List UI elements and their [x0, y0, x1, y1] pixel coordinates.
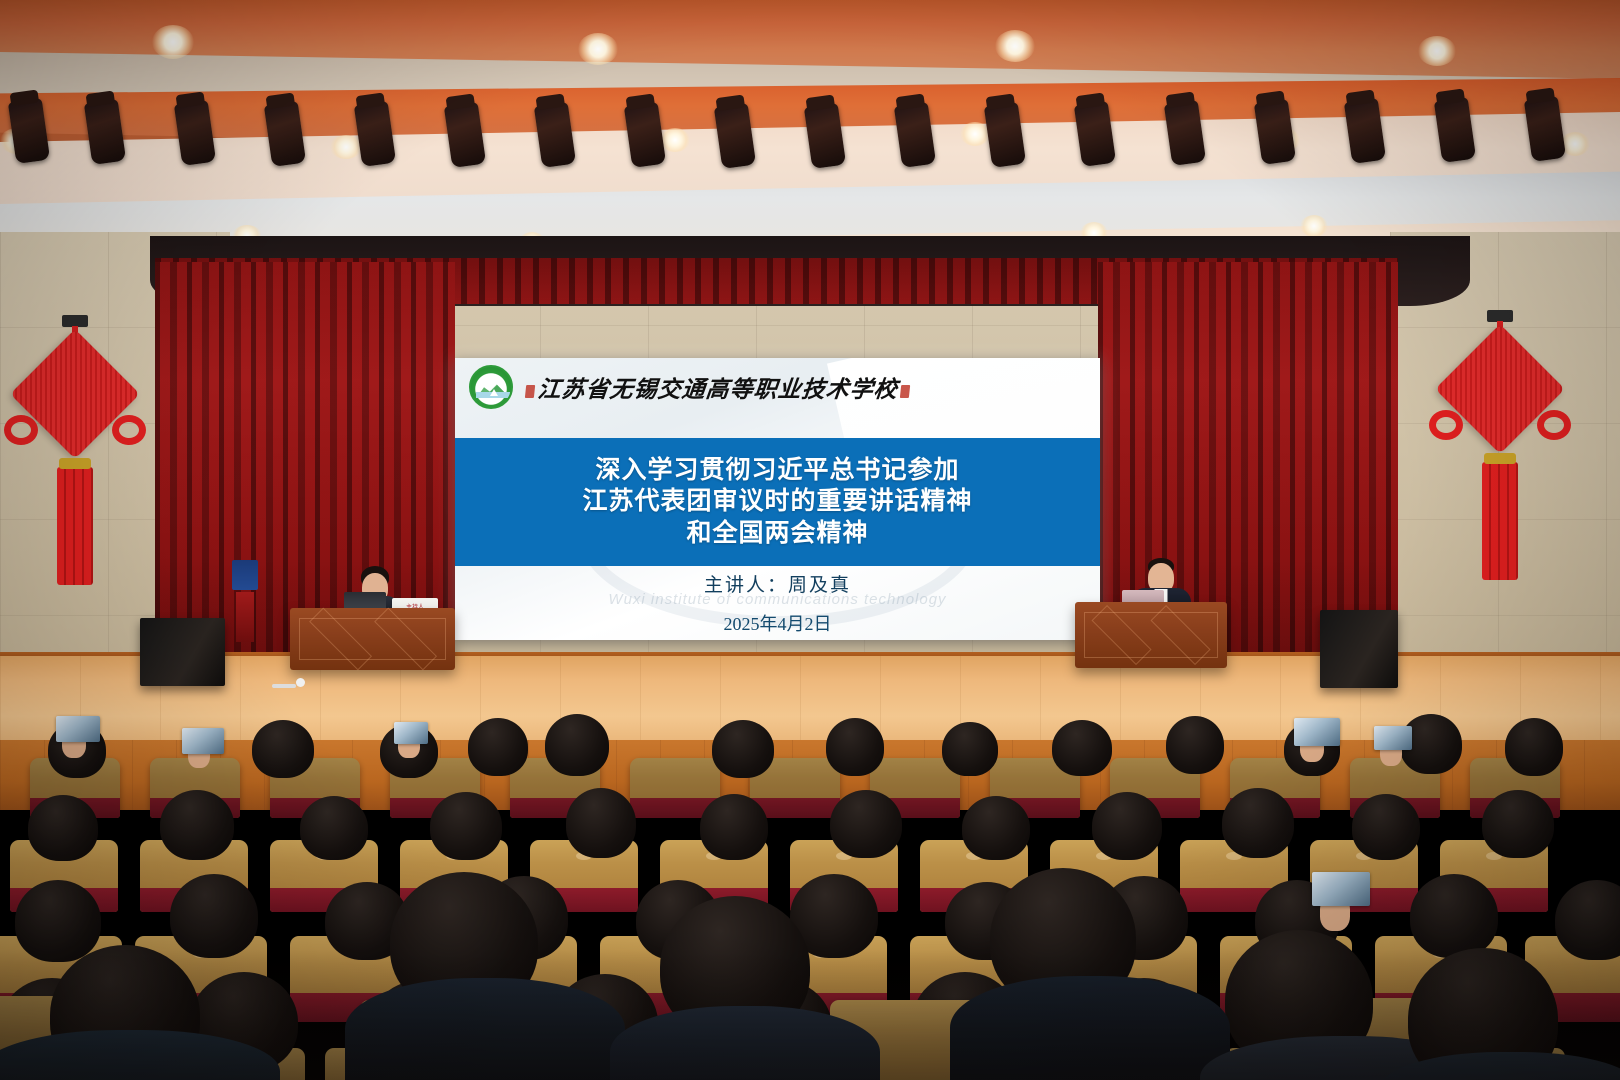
- audience-head: [1482, 790, 1554, 858]
- audience-head: [700, 794, 768, 860]
- slide-title-line-2: 江苏代表团审议时的重要讲话精神: [582, 487, 972, 517]
- audience-head: [1555, 880, 1620, 960]
- presider-desk: [290, 608, 455, 670]
- desk-panel-detail: [1084, 612, 1218, 658]
- school-emblem-icon: [469, 365, 513, 409]
- downlight-icon: [995, 30, 1035, 62]
- slide-date-line: 2025年4月2日: [455, 610, 1100, 636]
- lecturer-desk: [1075, 602, 1227, 668]
- stage-speaker-right: [1320, 610, 1398, 688]
- audience-head: [15, 880, 101, 962]
- audience-head: [1092, 792, 1162, 860]
- school-name-title: 江苏省无锡交通高等职业技术学校: [521, 370, 915, 404]
- downlight-icon: [1418, 36, 1456, 66]
- audience-phone-icon[interactable]: [394, 722, 428, 744]
- slide-header: 江苏省无锡交通高等职业技术学校: [455, 358, 1100, 416]
- audience-head: [430, 792, 502, 860]
- emblem-boat-shape: [490, 389, 498, 396]
- audience-head: [962, 796, 1030, 860]
- audience-area: [0, 700, 1620, 1080]
- audience-head: [712, 720, 774, 778]
- podium-sign: [232, 560, 258, 590]
- audience-phone-icon[interactable]: [1374, 726, 1412, 750]
- downlight-icon: [960, 122, 990, 146]
- audience-head: [252, 720, 314, 778]
- audience-head: [160, 790, 234, 860]
- microphone-cable: [272, 684, 296, 688]
- desk-panel-detail: [299, 618, 446, 660]
- audience-phone-icon[interactable]: [1312, 872, 1370, 906]
- audience-head: [942, 722, 998, 776]
- downlight-icon: [1300, 215, 1328, 237]
- knot-tassel: [1482, 462, 1518, 580]
- slide-title-line-1: 深入学习贯彻习近平总书记参加: [595, 456, 959, 486]
- audience-shoulders: [950, 976, 1230, 1080]
- knot-loop-left: [1429, 410, 1463, 440]
- audience-phone-icon[interactable]: [1294, 718, 1340, 746]
- audience-head: [1352, 794, 1420, 860]
- audience-head: [1505, 718, 1563, 776]
- audience-head: [830, 790, 902, 858]
- knot-tassel: [57, 467, 93, 585]
- audience-head: [1410, 874, 1498, 958]
- knot-loop-right: [1537, 410, 1571, 440]
- audience-head: [545, 714, 609, 776]
- slide-title-line-3: 和全国两会精神: [686, 519, 868, 549]
- audience-head: [28, 795, 98, 861]
- downlight-icon: [660, 128, 690, 152]
- slide-speaker-line: 主讲人：周及真: [455, 570, 1100, 597]
- audience-head: [566, 788, 636, 858]
- knot-loop-right: [112, 415, 146, 445]
- audience-head: [1052, 720, 1112, 776]
- audience-head: [1222, 788, 1294, 858]
- podium-banner: [236, 592, 254, 642]
- seal-stamp-icon: [525, 385, 535, 398]
- audience-head: [1166, 716, 1224, 774]
- auditorium-scene: Wuxi institute of communications technol…: [0, 0, 1620, 1080]
- downlight-icon: [330, 135, 362, 159]
- presentation-screen[interactable]: Wuxi institute of communications technol…: [455, 358, 1100, 640]
- stage-speaker-left: [140, 618, 225, 686]
- audience-shoulders: [610, 1006, 880, 1080]
- audience-head: [468, 718, 528, 776]
- knot-loop-left: [4, 415, 38, 445]
- audience-phone-icon[interactable]: [56, 716, 100, 742]
- audience-head: [826, 718, 884, 776]
- seal-stamp-icon: [900, 385, 910, 398]
- slide-title-banner: 深入学习贯彻习近平总书记参加 江苏代表团审议时的重要讲话精神 和全国两会精神: [455, 438, 1100, 566]
- audience-head: [300, 796, 368, 860]
- downlight-icon: [578, 33, 618, 65]
- audience-shoulders: [345, 978, 625, 1080]
- microphone-icon: [296, 678, 305, 687]
- school-name-text: 江苏省无锡交通高等职业技术学校: [536, 377, 899, 402]
- audience-phone-icon[interactable]: [182, 728, 224, 754]
- audience-head: [170, 874, 258, 958]
- downlight-icon: [152, 25, 194, 59]
